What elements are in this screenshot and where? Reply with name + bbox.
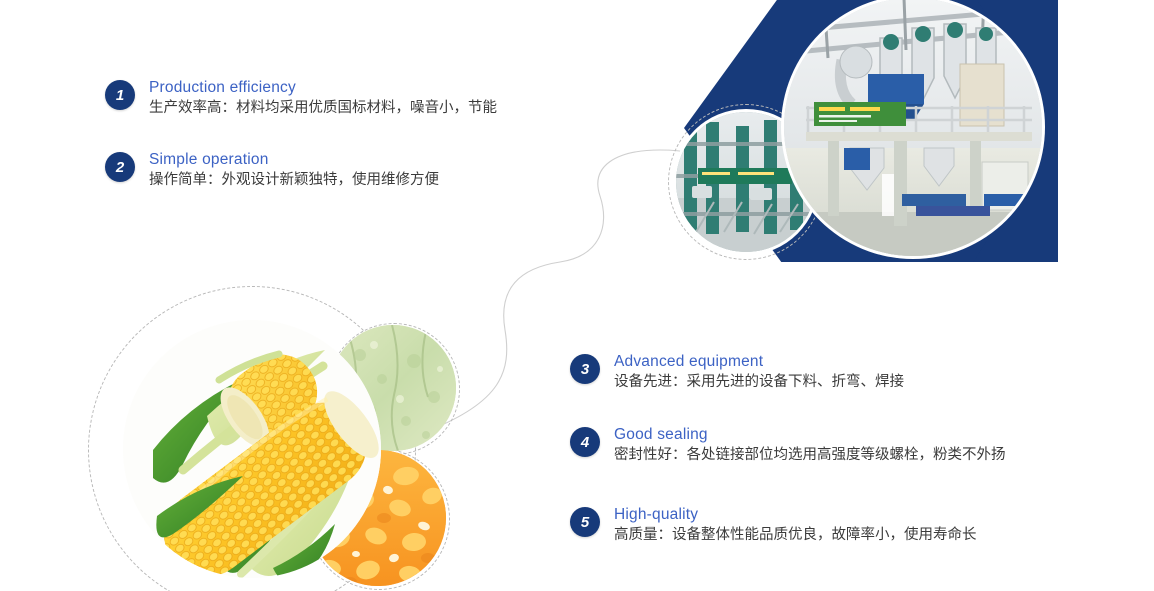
feature-item-4[interactable]: 4 Good sealing 密封性好：各处链接部位均选用高强度等级螺栓，粉类不… xyxy=(570,425,1006,466)
hexagon-photo-group xyxy=(684,0,1154,274)
feature-text-5: High-quality 高质量：设备整体性能品质优良，故障率小，使用寿命长 xyxy=(614,505,977,546)
corn-cob-photo xyxy=(123,320,381,578)
feature-item-1[interactable]: 1 Production efficiency 生产效率高：材料均采用优质国标材… xyxy=(105,78,497,119)
feature-text-3: Advanced equipment 设备先进：采用先进的设备下料、折弯、焊接 xyxy=(614,352,904,393)
feature-title-en-1: Production efficiency xyxy=(149,78,497,97)
feature-text-4: Good sealing 密封性好：各处链接部位均选用高强度等级螺栓，粉类不外扬 xyxy=(614,425,1006,466)
feature-title-en-5: High-quality xyxy=(614,505,977,524)
feature-title-zh-5: 高质量：设备整体性能品质优良，故障率小，使用寿命长 xyxy=(614,525,977,546)
feature-badge-2: 2 xyxy=(105,152,135,182)
feature-title-en-3: Advanced equipment xyxy=(614,352,904,371)
flour-milling-plant-photo xyxy=(784,0,1042,256)
feature-badge-4: 4 xyxy=(570,427,600,457)
feature-title-zh-1: 生产效率高：材料均采用优质国标材料，噪音小，节能 xyxy=(149,98,497,119)
feature-badge-1: 1 xyxy=(105,80,135,110)
feature-badge-5: 5 xyxy=(570,507,600,537)
feature-text-2: Simple operation 操作简单：外观设计新颖独特，使用维修方便 xyxy=(149,150,439,191)
feature-text-1: Production efficiency 生产效率高：材料均采用优质国标材料，… xyxy=(149,78,497,119)
infographic-canvas: 1 Production efficiency 生产效率高：材料均采用优质国标材… xyxy=(0,0,1154,591)
feature-title-en-2: Simple operation xyxy=(149,150,439,169)
feature-badge-3: 3 xyxy=(570,354,600,384)
feature-title-en-4: Good sealing xyxy=(614,425,1006,444)
corn-photo-group xyxy=(88,282,488,591)
feature-title-zh-3: 设备先进：采用先进的设备下料、折弯、焊接 xyxy=(614,372,904,393)
feature-title-zh-4: 密封性好：各处链接部位均选用高强度等级螺栓，粉类不外扬 xyxy=(614,445,1006,466)
feature-title-zh-2: 操作简单：外观设计新颖独特，使用维修方便 xyxy=(149,170,439,191)
feature-item-3[interactable]: 3 Advanced equipment 设备先进：采用先进的设备下料、折弯、焊… xyxy=(570,352,904,393)
feature-item-5[interactable]: 5 High-quality 高质量：设备整体性能品质优良，故障率小，使用寿命长 xyxy=(570,505,977,546)
feature-item-2[interactable]: 2 Simple operation 操作简单：外观设计新颖独特，使用维修方便 xyxy=(105,150,439,191)
